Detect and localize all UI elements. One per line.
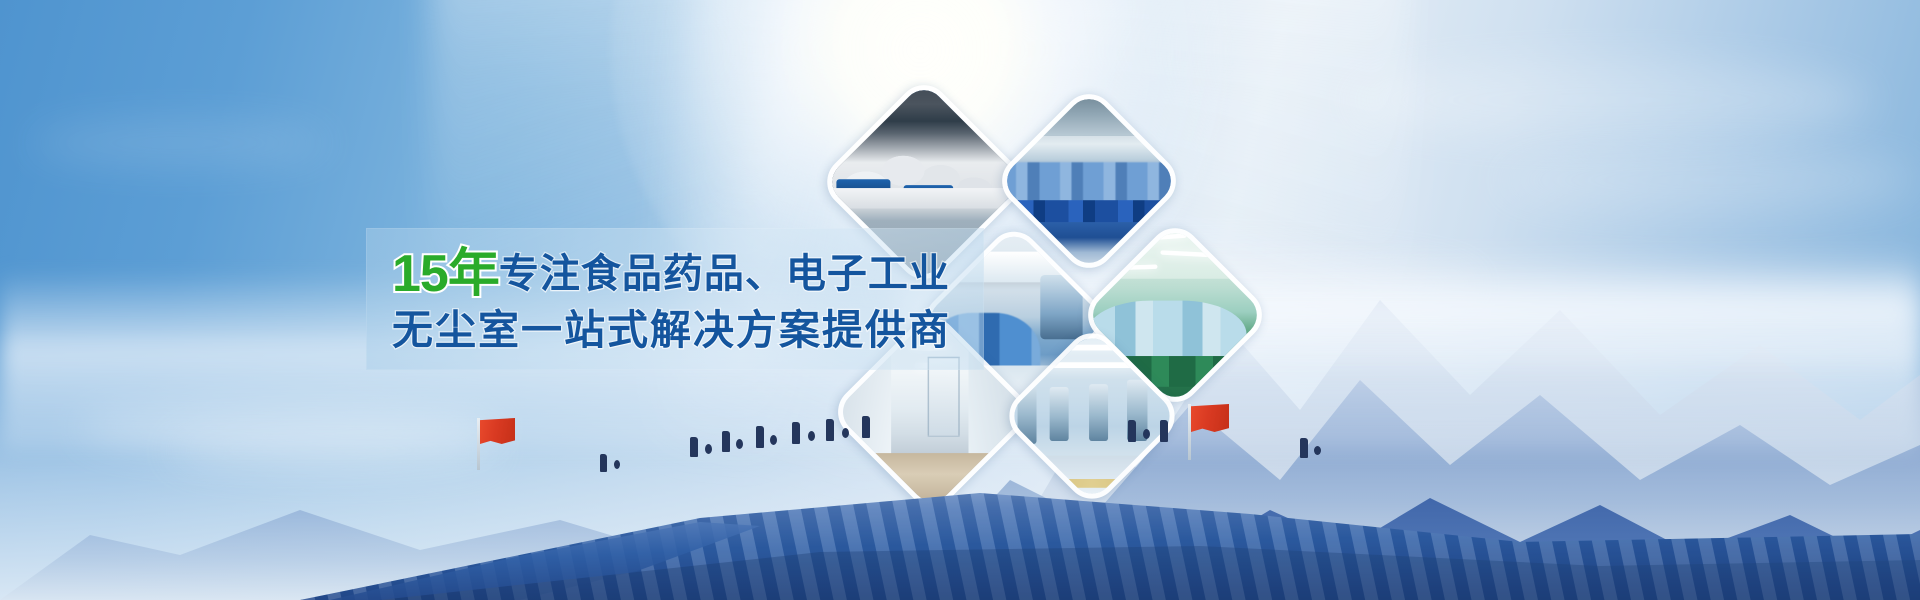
hero-banner: 15年专注食品药品、电子工业 无尘室一站式解决方案提供商 bbox=[0, 0, 1920, 600]
cloud-wisp bbox=[1350, 60, 1870, 140]
cloud-wisp bbox=[30, 120, 330, 166]
ridge-and-climbers bbox=[0, 340, 1920, 600]
headline-years: 15 bbox=[392, 245, 448, 303]
blue-snow-ridge bbox=[0, 430, 1920, 600]
headline-line-1: 15年专注食品药品、电子工业 bbox=[392, 246, 992, 302]
headline-years-unit: 年 bbox=[448, 245, 499, 303]
headline-line-1-rest: 专注食品药品、电子工业 bbox=[499, 252, 950, 296]
